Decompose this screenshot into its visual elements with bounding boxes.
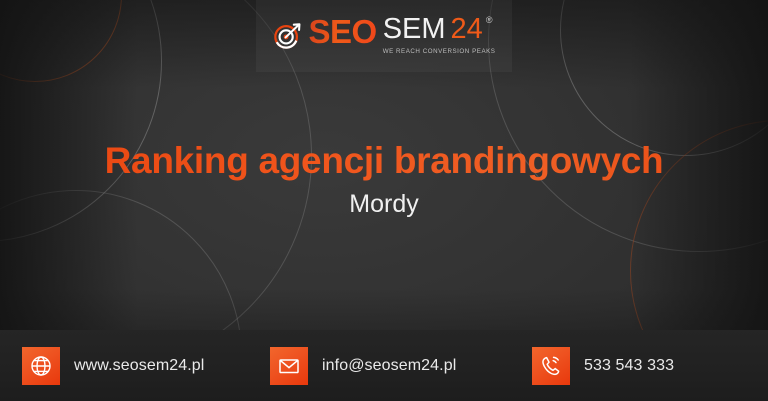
brand-logo[interactable]: SEO SEM 24 ® WE REACH CONVERSION PEAKS bbox=[273, 15, 496, 55]
logo-wordmark: SEO SEM 24 ® WE REACH CONVERSION PEAKS bbox=[309, 15, 496, 55]
logo-sem-text: SEM bbox=[383, 15, 446, 44]
registered-trademark-icon: ® bbox=[486, 16, 493, 25]
globe-icon bbox=[22, 347, 60, 385]
page-subtitle: Mordy bbox=[0, 191, 768, 219]
logo-seo-text: SEO bbox=[309, 15, 377, 48]
logo-plate: SEO SEM 24 ® WE REACH CONVERSION PEAKS bbox=[256, 0, 512, 72]
contact-website[interactable]: www.seosem24.pl bbox=[0, 347, 258, 385]
contact-phone[interactable]: 533 543 333 bbox=[506, 347, 768, 385]
page-title: Ranking agencji brandingowych bbox=[0, 140, 768, 181]
contact-phone-label: 533 543 333 bbox=[584, 357, 674, 375]
logo-24-text: 24 bbox=[451, 15, 483, 44]
logo-sem24-row: SEM 24 ® bbox=[383, 15, 493, 44]
footer-bar: www.seosem24.pl info@seosem24.pl 533 543… bbox=[0, 330, 768, 401]
contact-email[interactable]: info@seosem24.pl bbox=[258, 347, 506, 385]
hero-block: Ranking agencji brandingowych Mordy bbox=[0, 140, 768, 219]
target-arrow-icon bbox=[273, 20, 303, 50]
phone-icon bbox=[532, 347, 570, 385]
logo-right-block: SEM 24 ® WE REACH CONVERSION PEAKS bbox=[383, 15, 496, 55]
contact-email-label: info@seosem24.pl bbox=[322, 357, 456, 375]
contact-website-label: www.seosem24.pl bbox=[74, 357, 204, 375]
logo-tagline: WE REACH CONVERSION PEAKS bbox=[383, 48, 496, 55]
slide-canvas: SEO SEM 24 ® WE REACH CONVERSION PEAKS R… bbox=[0, 0, 768, 401]
envelope-icon bbox=[270, 347, 308, 385]
